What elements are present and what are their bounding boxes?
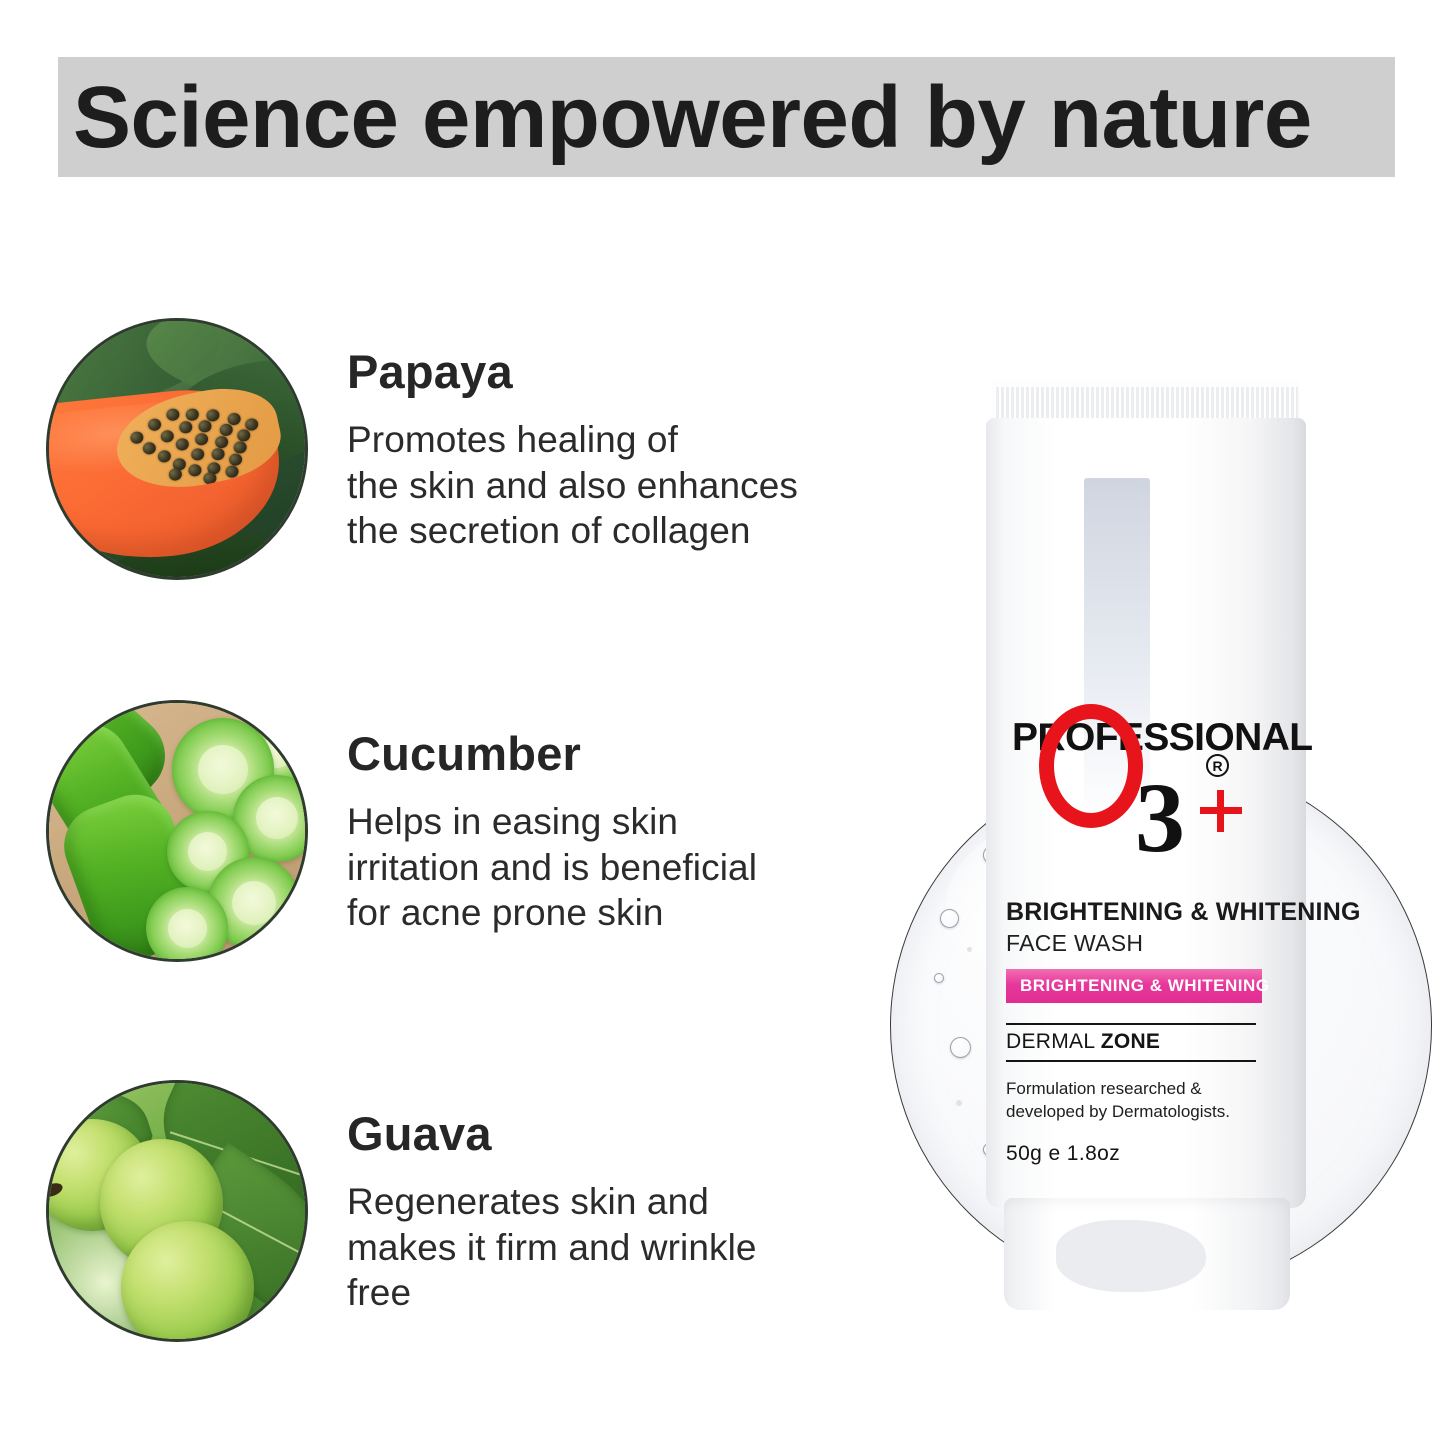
gel-bubble (950, 1037, 971, 1058)
papaya-seed (186, 463, 201, 477)
gel-bubble (934, 973, 944, 983)
brand-o-icon (1039, 704, 1143, 828)
tube-cap-shading (1056, 1220, 1206, 1292)
product-label: BRIGHTENING & WHITENING FACE WASH BRIGHT… (1006, 898, 1302, 1166)
papaya-seed (193, 431, 208, 445)
brand-logo: PROFESSIONAL 3 R (992, 718, 1302, 858)
tube-body: PROFESSIONAL 3 R BRIGHTENING & WHITENING… (986, 418, 1306, 1208)
product-tube: PROFESSIONAL 3 R BRIGHTENING & WHITENING… (986, 380, 1306, 1310)
papaya-seed (167, 467, 182, 481)
label-pink-band: BRIGHTENING & WHITENING (1006, 969, 1262, 1003)
label-divider-top (1006, 1023, 1256, 1025)
papaya-seed (224, 464, 239, 478)
papaya-seed (228, 452, 243, 466)
papaya-seed (185, 407, 200, 421)
label-formulation: Formulation researched & developed by De… (1006, 1078, 1256, 1124)
papaya-seed (141, 440, 156, 454)
gel-micro-bubble (967, 947, 972, 952)
product-infographic: Science empowered by nature Papaya Promo… (0, 0, 1445, 1445)
cucumber-image-circle (46, 700, 308, 962)
papaya-seed (129, 430, 144, 444)
brand-plus-icon (1200, 790, 1242, 832)
papaya-seed (177, 420, 192, 434)
papaya-seed (157, 448, 172, 462)
tube-cap (1004, 1198, 1290, 1310)
papaya-seed (232, 440, 247, 454)
cucumber-photo (49, 703, 305, 959)
gel-micro-bubble (956, 1100, 962, 1106)
gel-bubble (940, 909, 959, 928)
papaya-seed (197, 419, 212, 433)
pink-band-text: BRIGHTENING & WHITENING (1020, 976, 1270, 996)
papaya-seed (214, 434, 229, 448)
formulation-line: developed by Dermatologists. (1006, 1101, 1256, 1124)
label-product-name: BRIGHTENING & WHITENING (1006, 898, 1302, 926)
product-scene: PROFESSIONAL 3 R BRIGHTENING & WHITENING… (860, 360, 1445, 1350)
brand-numeral: 3 (1135, 768, 1185, 868)
formulation-line: Formulation researched & (1006, 1078, 1256, 1101)
guava-photo (49, 1083, 305, 1339)
papaya-seed (146, 417, 161, 431)
page-title: Science empowered by nature (73, 62, 1393, 174)
papaya-seed (210, 447, 225, 461)
papaya-seed (159, 429, 174, 443)
papaya-seed (165, 407, 180, 421)
papaya-seed (190, 447, 205, 461)
papaya-image-circle (46, 318, 308, 580)
tube-crimp-seal (994, 380, 1298, 420)
registered-trademark-icon: R (1206, 754, 1229, 777)
papaya-seed (174, 437, 189, 451)
guava-image-circle (46, 1080, 308, 1342)
label-product-type: FACE WASH (1006, 930, 1302, 957)
papaya-photo (49, 321, 305, 577)
label-divider-bottom (1006, 1060, 1256, 1062)
label-net-weight: 50g e 1.8oz (1006, 1142, 1302, 1166)
label-dermal-zone: DERMAL ZONE (1006, 1030, 1302, 1054)
